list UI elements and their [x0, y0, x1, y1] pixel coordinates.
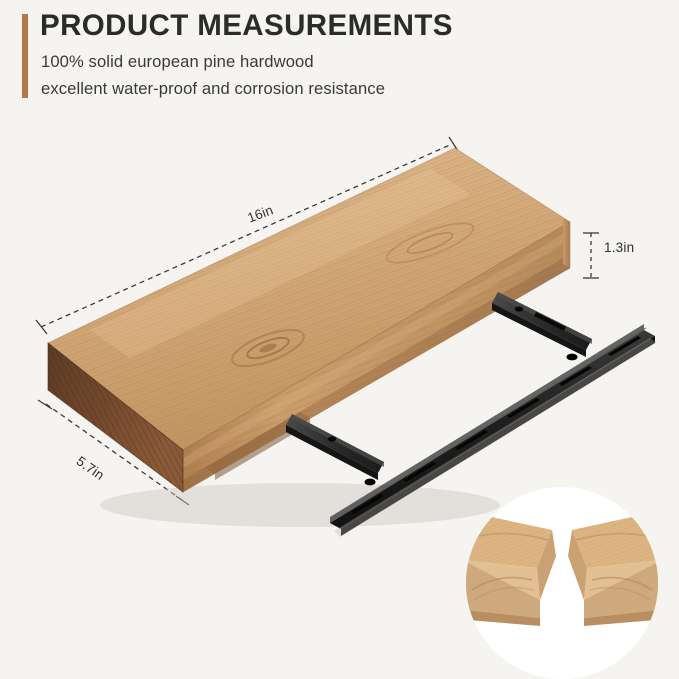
product-measurement-graphic: PRODUCT MEASUREMENTS 100% solid european… — [0, 0, 679, 679]
shelf-board — [0, 100, 679, 527]
dimension-label-thickness: 1.3in — [604, 240, 634, 255]
product-illustration — [0, 0, 679, 679]
detail-inset — [462, 487, 662, 679]
bracket-arm-back — [492, 292, 592, 357]
bracket-arm-front — [286, 414, 384, 480]
dimension-line-thickness — [583, 233, 599, 278]
